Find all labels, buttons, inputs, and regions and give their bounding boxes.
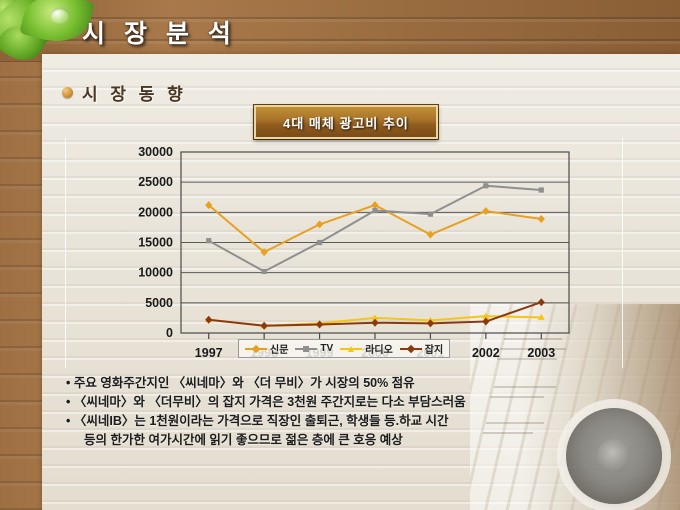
x-axis-tick-label: 2002 (472, 346, 500, 360)
chart-legend: 신문TV라디오잡지 (238, 339, 450, 358)
bullet-line-4: 등의 한가한 여가시간에 읽기 좋으므로 젊은 층에 큰 호응 예상 (66, 431, 666, 450)
legend-item-라디오[interactable]: 라디오 (340, 341, 393, 356)
data-point (316, 321, 323, 329)
legend-swatch-icon (295, 344, 317, 354)
chart-title: 4대 매체 광고비 추이 (283, 113, 409, 132)
water-droplet-icon (50, 8, 70, 24)
legend-label: 신문 (270, 341, 288, 356)
y-axis-tick-label: 20000 (138, 205, 173, 219)
bullet-line-1: • 주요 영화주간지인 〈씨네마〉와 〈더 무비〉가 시장의 50% 점유 (66, 374, 666, 393)
circle-bullet-icon (62, 87, 73, 98)
chart-area: 0500010000150002000025000300001997199819… (65, 138, 623, 368)
legend-item-신문[interactable]: 신문 (245, 341, 288, 356)
x-axis-tick-label: 2003 (527, 346, 555, 360)
data-point (428, 212, 433, 217)
legend-swatch-icon (400, 344, 422, 354)
section-title: 시 장 동 향 (82, 80, 187, 105)
data-point (427, 231, 434, 239)
legend-swatch-icon (340, 344, 362, 354)
legend-label: TV (320, 343, 333, 354)
y-axis-tick-label: 0 (166, 326, 173, 340)
content-panel: 시 장 동 향 4대 매체 광고비 추이 0500010000150002000… (42, 54, 680, 510)
data-point (538, 215, 545, 223)
data-point (482, 207, 489, 215)
y-axis-tick-label: 5000 (145, 296, 173, 310)
data-point (316, 220, 323, 228)
legend-label: 잡지 (425, 341, 443, 356)
presentation-slide: 시 장 분 석 시 장 동 향 4대 매체 광고비 추이 05000100001… (0, 0, 680, 510)
y-axis-tick-label: 30000 (138, 145, 173, 159)
section-heading: 시 장 동 향 (62, 80, 187, 105)
data-point (261, 322, 268, 330)
data-point (262, 269, 267, 274)
data-point (482, 318, 489, 326)
bullet-list: • 주요 영화주간지인 〈씨네마〉와 〈더 무비〉가 시장의 50% 점유 • … (66, 374, 666, 450)
slide-title: 시 장 분 석 (82, 14, 237, 50)
bullet-line-3: • 〈씨네IB〉는 1천원이라는 가격으로 직장인 출퇴근, 학생들 등.하교 … (66, 412, 666, 431)
data-point (205, 316, 212, 324)
legend-item-TV[interactable]: TV (295, 343, 333, 354)
data-point (539, 187, 544, 192)
data-point (483, 183, 488, 188)
y-axis-tick-label: 25000 (138, 175, 173, 189)
data-point (317, 240, 322, 245)
y-axis-tick-label: 15000 (138, 236, 173, 250)
x-axis-tick-label: 1997 (195, 346, 223, 360)
bullet-line-2: • 〈씨네마〉와 〈더무비〉의 잡지 가격은 3천원 주간지로는 다소 부담스러… (66, 393, 666, 412)
chart-title-plaque: 4대 매체 광고비 추이 (254, 105, 438, 139)
data-point (372, 208, 377, 213)
data-point (371, 201, 378, 209)
legend-label: 라디오 (365, 341, 393, 356)
chart-svg: 0500010000150002000025000300001997199819… (66, 138, 622, 368)
legend-swatch-icon (245, 344, 267, 354)
legend-item-잡지[interactable]: 잡지 (400, 341, 443, 356)
series-line-TV (209, 186, 542, 272)
y-axis-tick-label: 10000 (138, 266, 173, 280)
data-point (538, 298, 545, 306)
data-point (206, 238, 211, 243)
